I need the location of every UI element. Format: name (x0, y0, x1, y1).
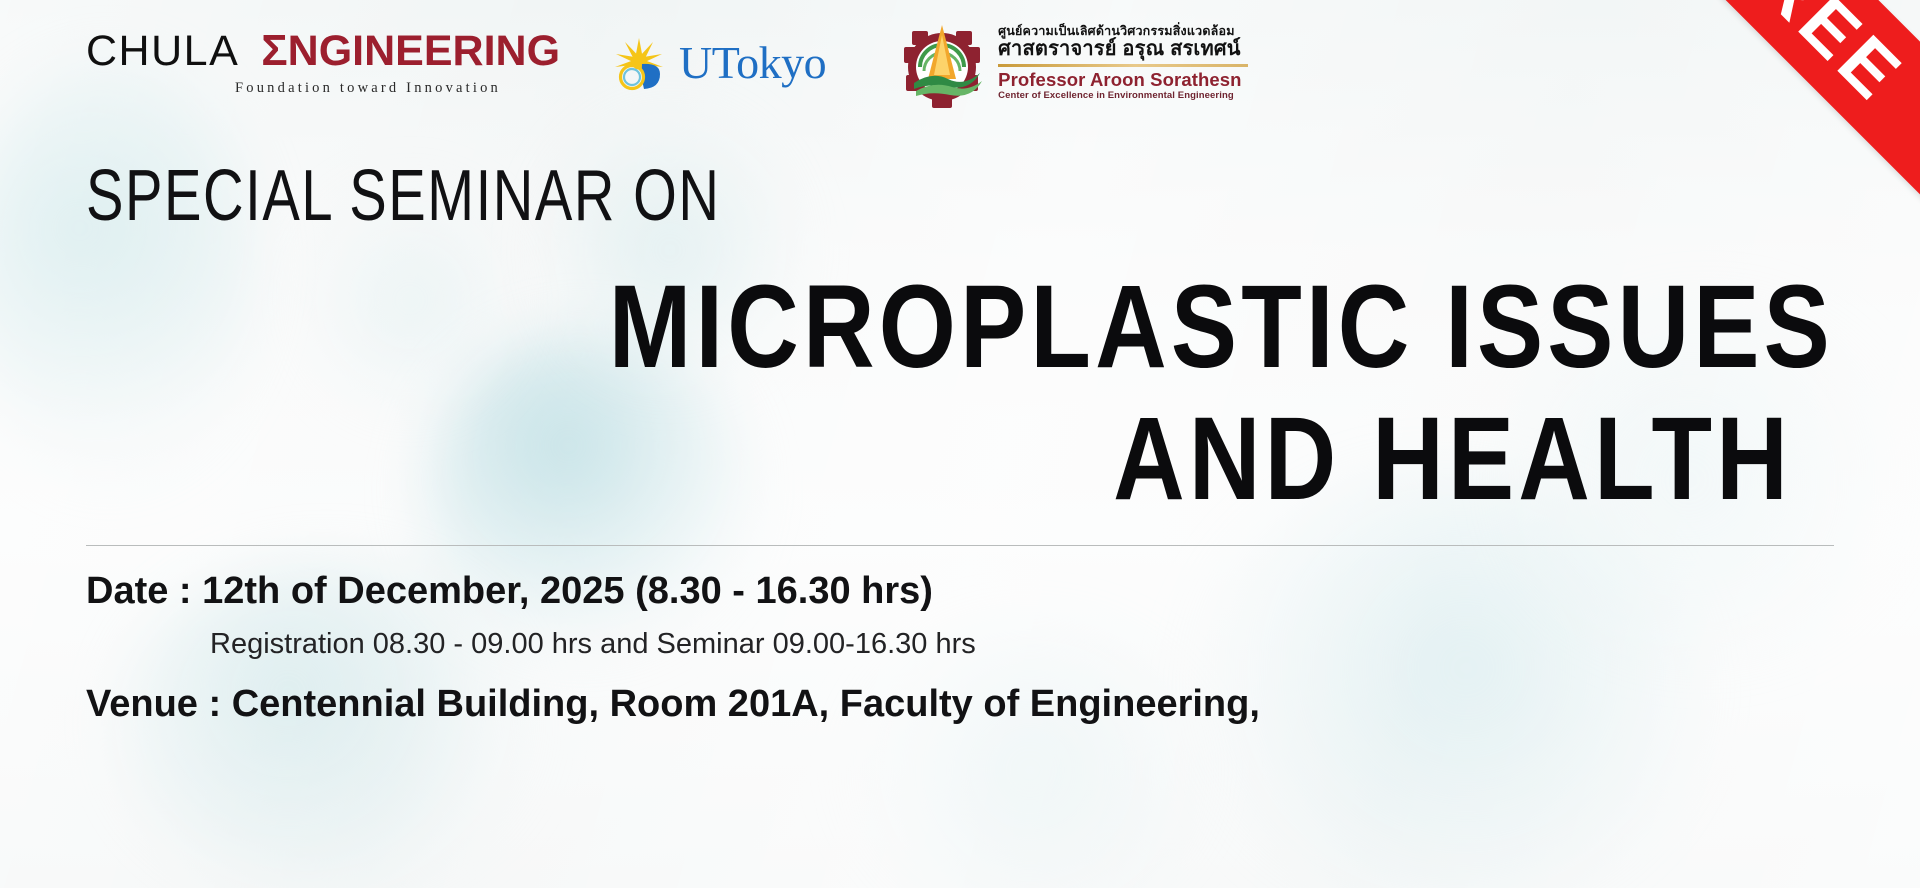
chula-engineering-logo: CHULA ΣNGINEERING Foundation toward Inno… (86, 29, 560, 97)
aroon-center-emblem-icon (896, 17, 988, 109)
utokyo-ginkgo-mark-icon (608, 32, 670, 94)
engineering-word-rest: NGINEERING (288, 27, 560, 75)
utokyo-logo: UTokyo (608, 32, 826, 94)
chula-tagline: Foundation toward Innovation (235, 80, 501, 97)
event-details: Date : 12th of December, 2025 (8.30 - 16… (86, 570, 1860, 726)
seminar-title-line-1: MICROPLASTIC ISSUES (366, 258, 1834, 396)
free-ribbon-label: FREE (1623, 0, 1917, 115)
engineering-word: ΣNGINEERING (261, 29, 560, 73)
headline-block: SPECIAL SEMINAR ON MICROPLASTIC ISSUES A… (86, 160, 1834, 528)
seminar-title-line-2: AND HEALTH (366, 390, 1834, 528)
aroon-english-name: Professor Aroon Sorathesn (998, 70, 1248, 89)
event-venue-line: Venue : Centennial Building, Room 201A, … (86, 683, 1860, 727)
chula-word: CHULA (86, 30, 239, 73)
aroon-center-text: ศูนย์ความเป็นเลิศด้านวิศวกรรมสิ่งแวดล้อม… (998, 25, 1248, 102)
section-divider (86, 545, 1834, 546)
aroon-english-subtitle: Center of Excellence in Environmental En… (998, 91, 1248, 101)
aroon-thai-subtitle: ศูนย์ความเป็นเลิศด้านวิศวกรรมสิ่งแวดล้อม (998, 25, 1248, 38)
event-registration-line: Registration 08.30 - 09.00 hrs and Semin… (210, 628, 1860, 661)
aroon-thai-name: ศาสตราจารย์ อรุณ สรเทศน์ (998, 39, 1248, 60)
logo-strip: CHULA ΣNGINEERING Foundation toward Inno… (86, 16, 1248, 110)
utokyo-wordmark: UTokyo (679, 40, 826, 86)
chula-wordmark: CHULA ΣNGINEERING (86, 29, 560, 73)
aroon-center-logo: ศูนย์ความเป็นเลิศด้านวิศวกรรมสิ่งแวดล้อม… (896, 17, 1248, 109)
aroon-divider-rule (998, 64, 1248, 67)
sigma-glyph: Σ (261, 26, 287, 75)
seminar-kicker: SPECIAL SEMINAR ON (86, 160, 1449, 232)
event-date-line: Date : 12th of December, 2025 (8.30 - 16… (86, 570, 1860, 614)
seminar-poster: CHULA ΣNGINEERING Foundation toward Inno… (0, 0, 1920, 888)
